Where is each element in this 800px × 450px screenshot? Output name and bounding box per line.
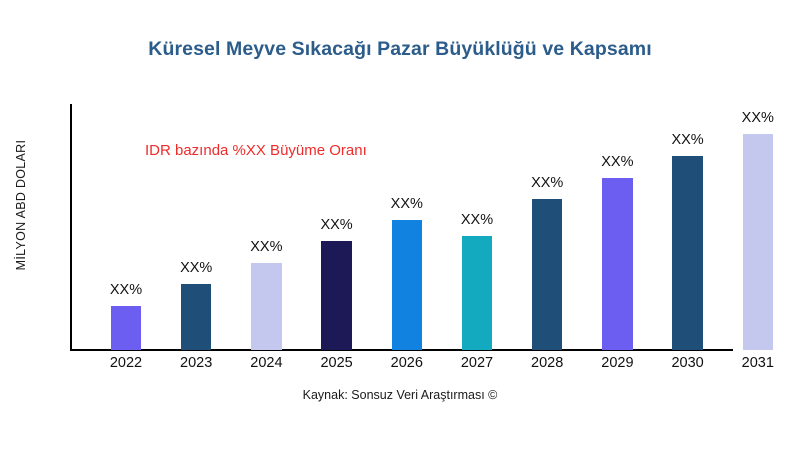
bar-2031[interactable] xyxy=(743,134,774,350)
bar-value-label-2022: XX% xyxy=(86,282,166,298)
x-tick-2022: 2022 xyxy=(86,355,166,371)
source-note: Kaynak: Sonsuz Veri Araştırması © xyxy=(0,388,800,402)
bar-2024[interactable] xyxy=(251,263,282,350)
bar-2025[interactable] xyxy=(321,241,352,350)
bar-value-label-2031: XX% xyxy=(718,110,798,126)
bar-value-label-2026: XX% xyxy=(367,196,447,212)
x-tick-2023: 2023 xyxy=(156,355,236,371)
bar-2026[interactable] xyxy=(392,220,423,350)
bar-value-label-2030: XX% xyxy=(648,132,728,148)
growth-rate-annotation: IDR bazında %XX Büyüme Oranı xyxy=(145,142,367,159)
bar-2027[interactable] xyxy=(462,236,493,350)
bar-value-label-2025: XX% xyxy=(297,217,377,233)
bar-2022[interactable] xyxy=(111,306,142,350)
bar-value-label-2029: XX% xyxy=(577,154,657,170)
bar-2030[interactable] xyxy=(672,156,703,350)
bar-2023[interactable] xyxy=(181,284,212,350)
bar-value-label-2028: XX% xyxy=(507,175,587,191)
x-tick-2029: 2029 xyxy=(577,355,657,371)
x-tick-2026: 2026 xyxy=(367,355,447,371)
x-tick-2025: 2025 xyxy=(297,355,377,371)
bar-value-label-2027: XX% xyxy=(437,212,517,228)
x-tick-2028: 2028 xyxy=(507,355,587,371)
x-tick-2030: 2030 xyxy=(648,355,728,371)
bar-2029[interactable] xyxy=(602,178,633,350)
bar-2028[interactable] xyxy=(532,199,563,350)
y-axis-line xyxy=(70,104,72,351)
plot-area: XX%XX%XX%XX%XX%XX%XX%XX%XX%XX% 202220232… xyxy=(0,0,800,450)
x-tick-2024: 2024 xyxy=(226,355,306,371)
chart-container: Küresel Meyve Sıkacağı Pazar Büyüklüğü v… xyxy=(0,0,800,450)
x-tick-2027: 2027 xyxy=(437,355,517,371)
bar-value-label-2024: XX% xyxy=(226,239,306,255)
x-tick-2031: 2031 xyxy=(718,355,798,371)
bar-value-label-2023: XX% xyxy=(156,260,236,276)
